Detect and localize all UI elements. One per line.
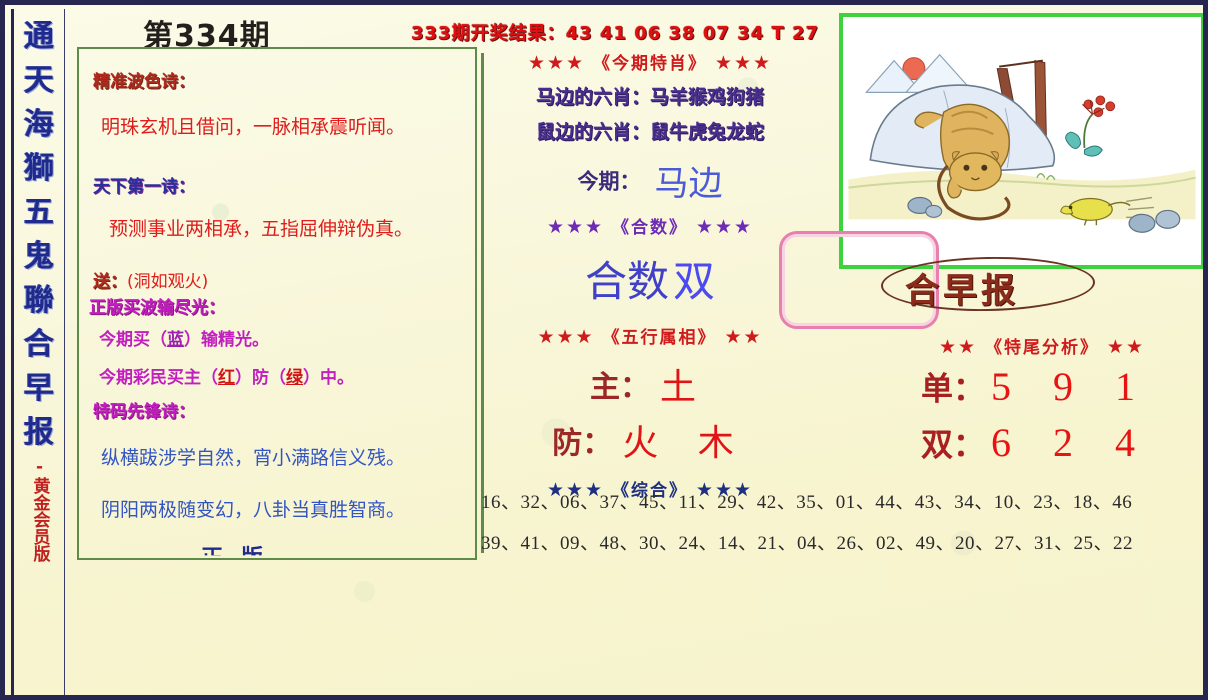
rat-zodiac-line: 鼠边的六肖：鼠牛虎兔龙蛇 <box>485 117 815 144</box>
tail-section-header: ★★ 《特尾分析》 ★★ <box>907 333 1177 358</box>
current-issue-value: 马边 <box>655 164 723 204</box>
even-tail-label: 双： <box>921 426 985 464</box>
star-right: ★★★ <box>696 216 753 238</box>
guard-element-label: 防： <box>552 426 612 461</box>
main-element-label: 主： <box>590 370 650 405</box>
star-right: ★★ <box>724 326 762 348</box>
current-issue-row: 今期： 马边 <box>485 156 815 205</box>
official-heading: 正版买波输尽光： <box>89 293 225 318</box>
stone <box>1129 214 1155 232</box>
special-poem-line2: 阴阳两极随变幻，八卦当真胜智商。 <box>101 495 405 522</box>
bose-poem-heading: 精准波色诗： <box>93 67 195 92</box>
banner-char: 聯 <box>14 279 64 323</box>
main-element-value: 土 <box>660 367 710 408</box>
banner-char: 通 <box>14 15 64 59</box>
newspaper-page: 通 天 海 獅 五 鬼 聯 合 早 报 -黄金会员版 第334期 333期开奖结… <box>0 0 1208 700</box>
star-right: ★★★ <box>715 52 772 74</box>
banner-char: 海 <box>14 103 64 147</box>
star-left: ★★★ <box>547 216 604 238</box>
hexnum-value-row: 合数 双 <box>485 248 815 309</box>
special-poem-heading: 特码先锋诗： <box>93 397 195 422</box>
guard-element-row: 防： 火 木 <box>485 414 815 466</box>
draw-result-header: 333期开奖结果：43 41 06 38 07 34 T 27 <box>411 19 819 45</box>
stone <box>1156 210 1180 228</box>
vertical-divider <box>481 53 484 553</box>
wuxing-section-header: ★★★ 《五行属相》 ★★ <box>485 323 815 348</box>
main-element-row: 主： 土 <box>485 358 815 410</box>
left-vertical-banner: 通 天 海 獅 五 鬼 聯 合 早 报 -黄金会员版 <box>11 9 65 699</box>
odd-tail-label: 单： <box>921 370 985 408</box>
stone <box>926 205 942 217</box>
even-tail-digits: 6 2 4 <box>991 420 1151 465</box>
star-left: ★★★ <box>528 52 585 74</box>
gift-value: (洞如观火) <box>127 272 208 292</box>
even-tail-row: 双： 6 2 4 <box>921 419 1151 466</box>
people-line-color1: 红 <box>218 368 235 388</box>
zodiac-title: 《今期特肖》 <box>593 54 707 74</box>
zodiac-section-header: ★★★ 《今期特肖》 ★★★ <box>485 49 815 74</box>
current-issue-label: 今期： <box>578 170 641 194</box>
special-poem-line1: 纵横跋涉学自然，宵小满路信义残。 <box>101 443 405 470</box>
star-right: ★★ <box>1107 336 1145 358</box>
banner-char: 报 <box>14 411 64 455</box>
buy-line-prefix: 今期买（ <box>99 330 167 350</box>
banner-char: 合 <box>14 323 64 367</box>
hexnum-value: 双 <box>673 257 715 306</box>
left-content-box: 精准波色诗： 明珠玄机且借问，一脉相承震听闻。 天下第一诗： 预测事业两相承，五… <box>77 47 477 560</box>
number-row: 16、32、06、37、45、11、29、42、35、01、44、43、34、1… <box>481 487 1197 514</box>
first-poem-heading: 天下第一诗： <box>93 172 195 197</box>
bose-poem-text: 明珠玄机且借问，一脉相承震听闻。 <box>101 112 405 139</box>
star-left: ★★ <box>939 336 977 358</box>
banner-char: 早 <box>14 367 64 411</box>
buy-line-color: 蓝 <box>167 330 184 350</box>
star-left: ★★★ <box>537 326 594 348</box>
first-poem-text: 预测事业两相承，五指屈伸辩伪真。 <box>109 214 413 241</box>
hexnum-label: 合数 <box>585 257 669 306</box>
right-title: 合早报 <box>905 263 1019 312</box>
banner-char: 獅 <box>14 147 64 191</box>
tail-title: 《特尾分析》 <box>985 338 1099 358</box>
number-row: 39、41、09、48、30、24、14、21、04、26、02、49、20、2… <box>481 528 1197 555</box>
guard-element-value: 火 木 <box>622 423 747 464</box>
people-line-prefix: 今期彩民买主（ <box>99 368 218 388</box>
number-list: 16、32、06、37、45、11、29、42、35、01、44、43、34、1… <box>481 487 1197 569</box>
gift-label: 送： <box>93 272 127 292</box>
tiger-chasing-mouse-illustration <box>847 21 1197 261</box>
hexnum-section-header: ★★★ 《合数》 ★★★ <box>485 213 815 238</box>
wuxing-title: 《五行属相》 <box>603 328 717 348</box>
banner-char: 五 <box>14 191 64 235</box>
banner-char: 天 <box>14 59 64 103</box>
people-line-mid: ）防（ <box>235 368 286 388</box>
horse-zodiac-line: 马边的六肖：马羊猴鸡狗猪 <box>485 82 815 109</box>
banner-subtitle: -黄金会员版 <box>30 457 49 562</box>
people-line-suffix: ）中。 <box>303 368 354 388</box>
middle-column: ★★★ 《今期特肖》 ★★★ 马边的六肖：马羊猴鸡狗猪 鼠边的六肖：鼠牛虎兔龙蛇… <box>485 49 815 501</box>
banner-char: 鬼 <box>14 235 64 279</box>
odd-tail-digits: 5 9 1 <box>991 364 1151 409</box>
odd-tail-row: 单： 5 9 1 <box>921 363 1151 410</box>
buy-line-suffix: ）输精光。 <box>184 330 269 350</box>
people-line-color2: 绿 <box>286 368 303 388</box>
hexnum-title: 《合数》 <box>612 218 688 238</box>
